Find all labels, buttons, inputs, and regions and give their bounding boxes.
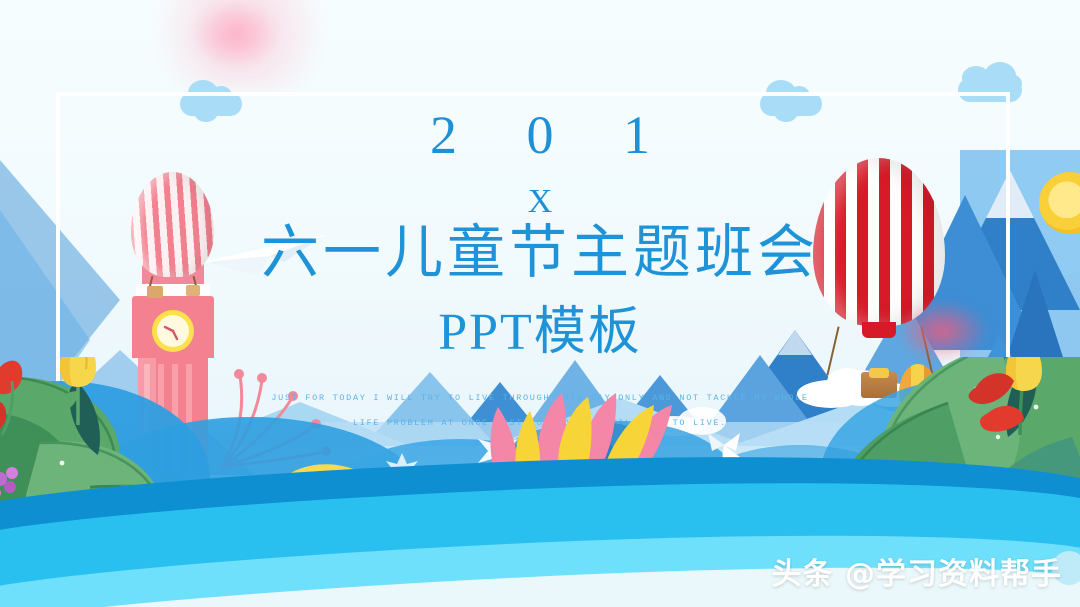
yellow-tulip-icon bbox=[42, 357, 112, 439]
watermark-text: 头条 @学习资料帮手 bbox=[772, 549, 1062, 593]
page-subtitle: PPT模板 bbox=[0, 305, 1080, 361]
presentation-slide: 2 0 1 X 六一儿童节主题班会 PPT模板 JUST FOR TODAY I… bbox=[0, 0, 1080, 607]
pink-haze-decor-2 bbox=[190, 0, 280, 70]
red-flower-icon bbox=[0, 357, 46, 457]
year-suffix: X bbox=[0, 185, 1080, 219]
page-title: 六一儿童节主题班会 bbox=[0, 222, 1080, 285]
right-tulip-cluster bbox=[968, 357, 1068, 455]
year-prefix: 2 0 1 bbox=[0, 108, 1080, 162]
